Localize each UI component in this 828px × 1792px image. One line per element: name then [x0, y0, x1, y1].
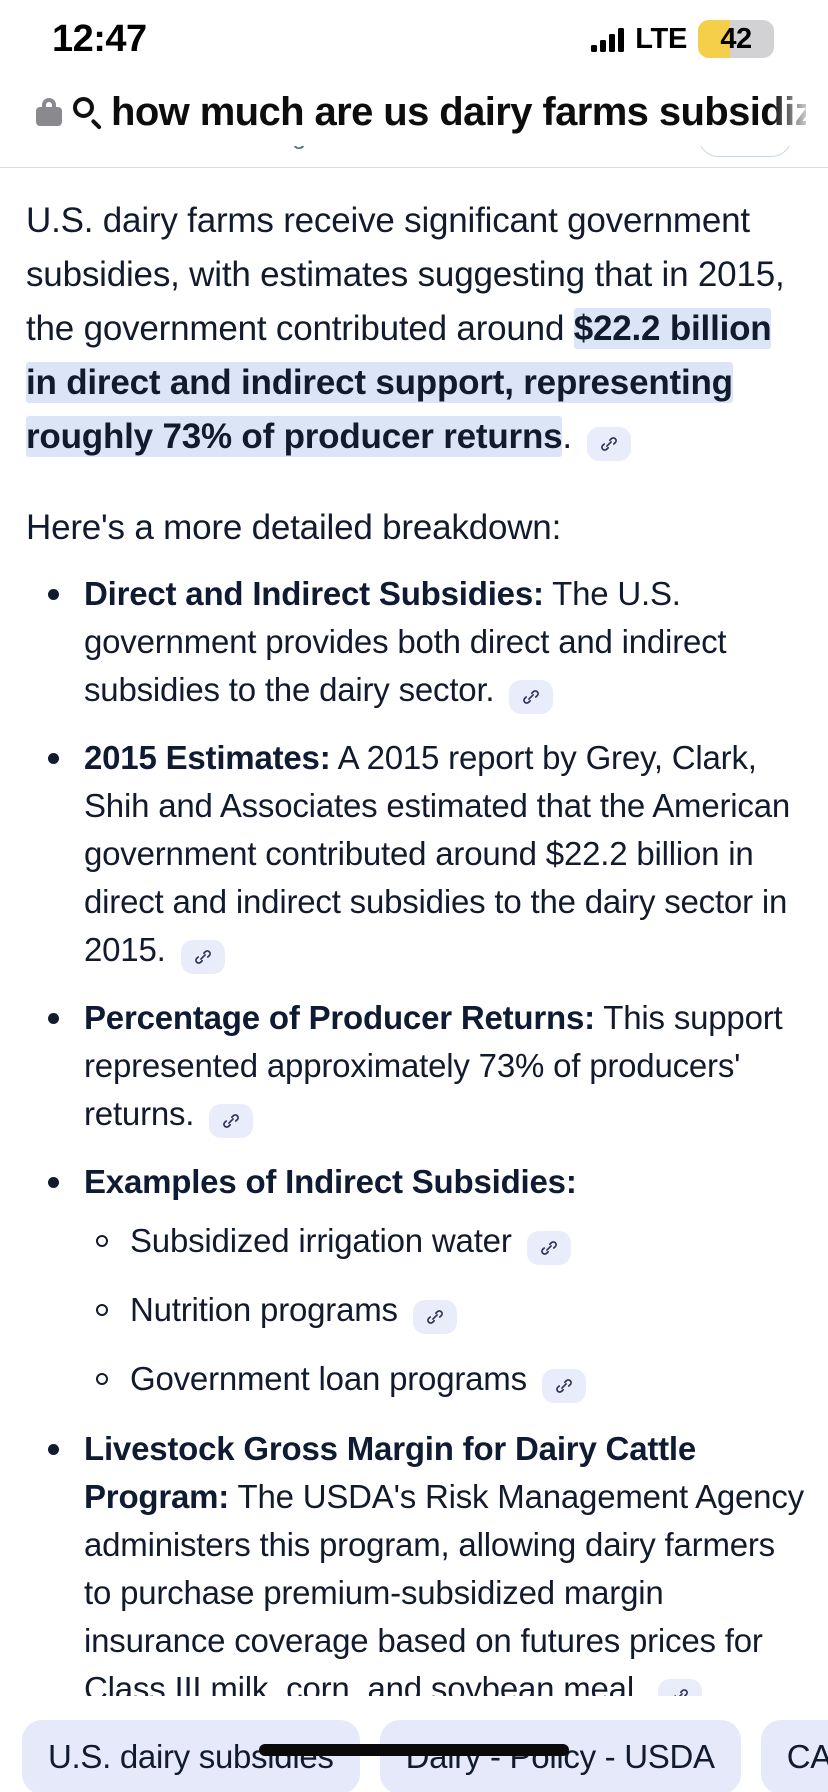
source-chip[interactable]: Dairy - Policy - USDA — [380, 1720, 741, 1792]
network-type-label: LTE — [635, 23, 687, 56]
status-indicators: LTE 42 — [591, 20, 774, 58]
link-icon[interactable] — [587, 427, 631, 461]
list-item: 2015 Estimates: A 2015 report by Grey, C… — [22, 734, 806, 974]
bullet-marker-icon — [48, 589, 59, 600]
tab-images[interactable]: Images — [251, 146, 333, 151]
home-indicator — [259, 1744, 569, 1756]
cellular-signal-icon — [591, 27, 624, 52]
tab-news[interactable]: News — [359, 146, 422, 151]
link-icon[interactable] — [209, 1104, 253, 1138]
tab-right-pill-label: Diff — [739, 146, 773, 150]
list-item: Percentage of Producer Returns: This sup… — [22, 994, 806, 1138]
list-item: Examples of Indirect Subsidies: Subsidiz… — [22, 1158, 806, 1403]
sub-list-item-text: Government loan programs — [130, 1360, 527, 1397]
link-icon[interactable] — [542, 1369, 586, 1403]
sub-list-item: Nutrition programs — [84, 1287, 806, 1334]
battery-icon: 42 — [698, 20, 774, 58]
summary-text-post: . — [562, 417, 572, 456]
link-icon[interactable] — [413, 1300, 457, 1334]
source-chip[interactable]: CA — [761, 1720, 828, 1792]
tab-ai-overview[interactable]: AI Overview — [36, 146, 171, 151]
source-chip[interactable]: U.S. dairy subsidies — [22, 1720, 360, 1792]
breakdown-list: Direct and Indirect Subsidies: The U.S. … — [22, 570, 806, 1792]
tab-right-pill[interactable]: Diff — [698, 146, 792, 157]
bullet-marker-icon — [48, 1177, 59, 1188]
ai-overview-summary: U.S. dairy farms receive significant gov… — [22, 194, 806, 464]
bullet-marker-icon — [48, 753, 59, 764]
link-icon[interactable] — [527, 1231, 571, 1265]
sub-bullet-marker-icon — [96, 1304, 108, 1316]
address-bar[interactable]: how much are us dairy farms subsidiz — [0, 78, 828, 146]
sub-list-item-text: Nutrition programs — [130, 1291, 398, 1328]
list-item: Livestock Gross Margin for Dairy Cattle … — [22, 1425, 806, 1713]
search-input[interactable]: how much are us dairy farms subsidiz — [111, 90, 806, 135]
ai-overview-content: U.S. dairy farms receive significant gov… — [0, 194, 828, 1792]
list-item-term: Direct and Indirect Subsidies: — [84, 575, 544, 612]
lock-icon — [36, 96, 62, 128]
tab-all[interactable]: All — [197, 146, 225, 151]
status-bar: 12:47 LTE 42 — [0, 0, 828, 78]
sub-bullet-marker-icon — [96, 1235, 108, 1247]
status-time: 12:47 — [52, 18, 147, 61]
tab-videos[interactable]: Videos — [447, 146, 523, 151]
link-icon[interactable] — [181, 940, 225, 974]
list-item: Direct and Indirect Subsidies: The U.S. … — [22, 570, 806, 714]
list-item-term: 2015 Estimates: — [84, 739, 330, 776]
search-tabs[interactable]: AI Overview All Images News Videos Diff — [0, 146, 828, 168]
sub-list-item: Subsidized irrigation water — [84, 1218, 806, 1265]
list-item-term: Percentage of Producer Returns: — [84, 999, 595, 1036]
browser-screen: 12:47 LTE 42 how much are us dairy farms… — [0, 0, 828, 1792]
sub-list-item-text: Subsidized irrigation water — [130, 1222, 512, 1259]
list-item-term: Examples of Indirect Subsidies: — [84, 1163, 577, 1200]
battery-percent-label: 42 — [698, 23, 774, 56]
sub-list-item: Government loan programs — [84, 1356, 806, 1403]
sub-bullet-marker-icon — [96, 1373, 108, 1385]
search-icon — [71, 95, 105, 129]
section-heading: Here's a more detailed breakdown: — [26, 504, 806, 552]
bullet-marker-icon — [48, 1444, 59, 1455]
sub-list: Subsidized irrigation water Nutrition pr… — [84, 1218, 806, 1403]
bullet-marker-icon — [48, 1013, 59, 1024]
link-icon[interactable] — [509, 680, 553, 714]
